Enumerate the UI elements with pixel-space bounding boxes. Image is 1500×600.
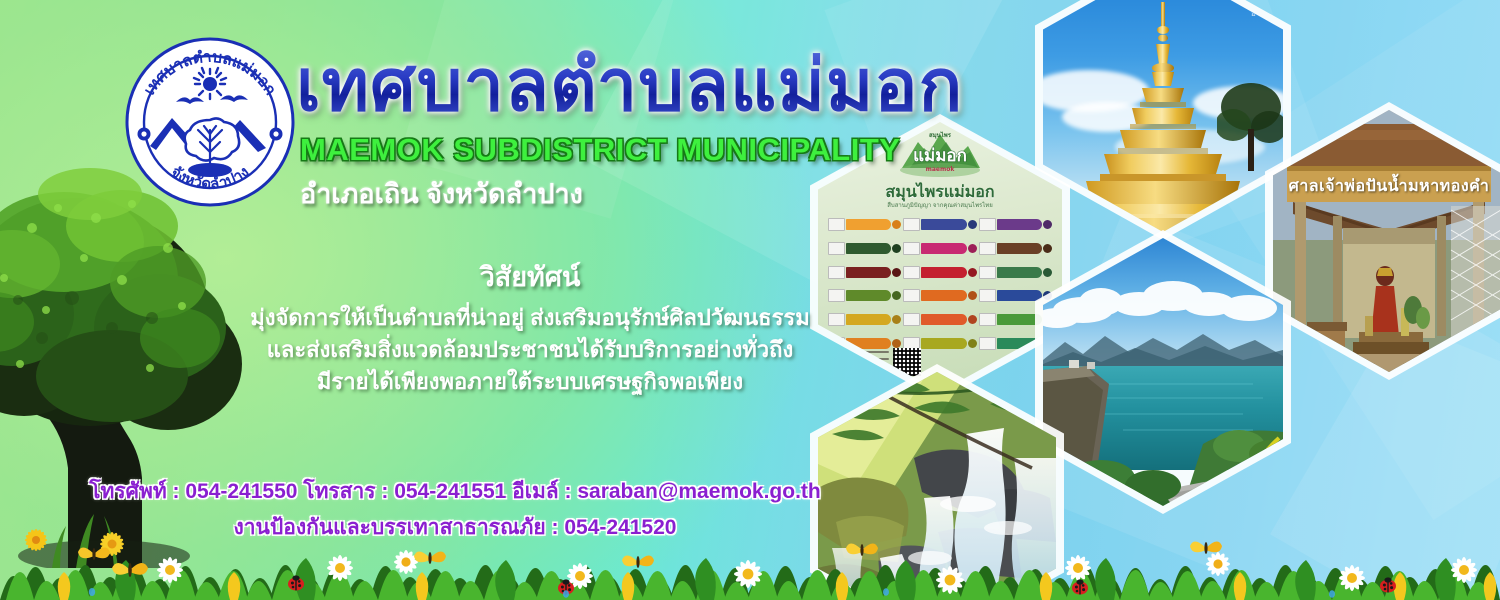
- poster-product-item: [828, 216, 901, 233]
- vision-line: และส่งเสริมสิ่งแวดล้อมประชาชนได้รับบริกา…: [230, 334, 830, 366]
- poster-product-item: [828, 264, 901, 281]
- poster-product-item: [828, 240, 901, 257]
- page-subtitle-thai: อำเภอเถิน จังหวัดลำปาง: [300, 172, 583, 215]
- page-title-english: MAEMOK SUBDISTRICT MUNICIPALITY: [300, 132, 900, 168]
- poster-product-item: [979, 240, 1052, 257]
- poster-product-item: [979, 264, 1052, 281]
- poster-product-item: [903, 287, 976, 304]
- poster-product-grid: [828, 216, 1052, 356]
- butterfly-icon: [78, 541, 1222, 577]
- vision-line: มุ่งจัดการให้เป็นตำบลที่น่าอยู่ ส่งเสริม…: [230, 302, 830, 334]
- shrine-sign-text: ศาลเจ้าพ่อปันน้ำมหาทองคำ: [1273, 174, 1500, 199]
- svg-text:maemok: maemok: [926, 166, 956, 173]
- poster-product-item: [828, 311, 901, 328]
- svg-text:แม่มอก: แม่มอก: [913, 146, 967, 166]
- page-title-thai: เทศบาลตำบลแม่มอก: [296, 50, 963, 122]
- grass-border: [0, 504, 1500, 600]
- vision-line: มีรายได้เพียงพอภายใต้ระบบเศรษฐกิจพอเพียง: [230, 366, 830, 398]
- poster-product-item: [903, 264, 976, 281]
- poster-product-item: [979, 216, 1052, 233]
- vision-heading: วิสัยทัศน์: [230, 255, 830, 298]
- poster-subtitle: สืบสานภูมิปัญญา จากคุณค่าสมุนไพรไทย: [818, 200, 1062, 210]
- municipality-emblem[interactable]: เทศบาลตำบลแม่มอก จังหวัดลำปาง: [124, 36, 296, 208]
- poster-product-item: [903, 311, 976, 328]
- banner: สมุนไพร แม่มอก maemok สมุนไพรแม่มอก สืบส…: [0, 0, 1500, 600]
- poster-product-item: [903, 240, 976, 257]
- poster-product-item: [903, 216, 976, 233]
- svg-text:สมุนไพร: สมุนไพร: [929, 131, 952, 139]
- vision-block: วิสัยทัศน์ มุ่งจัดการให้เป็นตำบลที่น่าอย…: [230, 255, 830, 398]
- tree-silhouette: [1217, 81, 1283, 171]
- poster-product-item: [828, 287, 901, 304]
